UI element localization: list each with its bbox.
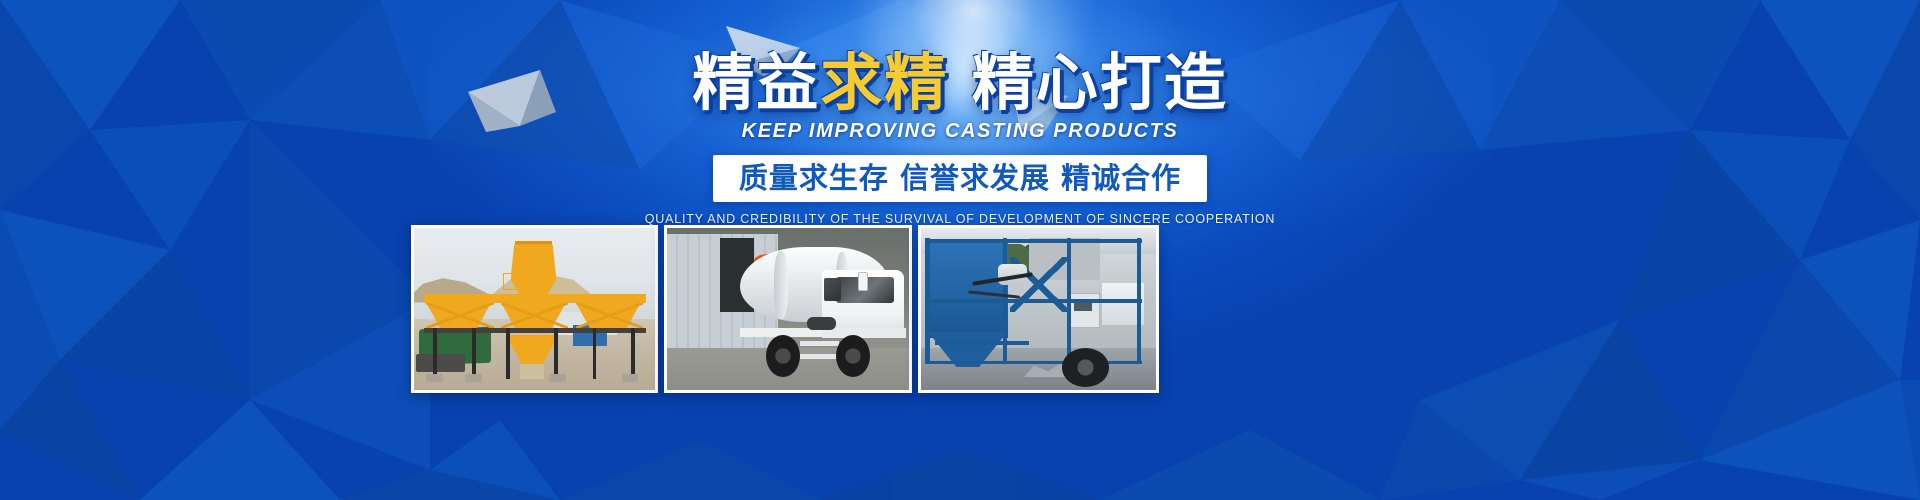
subtitle-english: KEEP IMPROVING CASTING PRODUCTS xyxy=(742,120,1179,143)
photo-blue-silo-equipment[interactable] xyxy=(918,225,1159,393)
photo-concrete-mixer-truck[interactable] xyxy=(664,225,911,393)
slogan-box: 质量求生存 信誉求发展 精诚合作 xyxy=(713,155,1207,202)
headline: 精益求精 精心打造 xyxy=(692,50,1228,116)
batching-plant-illustration xyxy=(414,228,655,390)
tagline-english: QUALITY AND CREDIBILITY OF THE SURVIVAL … xyxy=(645,212,1275,226)
photo-concrete-batching-plant[interactable] xyxy=(411,225,658,393)
headline-part-1: 精益 xyxy=(692,46,820,119)
photo-gallery xyxy=(411,225,1159,393)
headline-part-3: 精心打造 xyxy=(948,46,1228,119)
hero-banner: 精益求精 精心打造 KEEP IMPROVING CASTING PRODUCT… xyxy=(0,0,1920,500)
slogan-chinese: 质量求生存 信誉求发展 精诚合作 xyxy=(739,161,1181,195)
banner-copy: 精益求精 精心打造 KEEP IMPROVING CASTING PRODUCT… xyxy=(0,0,1920,230)
headline-part-2-accent: 求精 xyxy=(820,46,948,119)
silo-equipment-illustration xyxy=(921,228,1156,390)
mixer-truck-illustration xyxy=(667,228,908,390)
